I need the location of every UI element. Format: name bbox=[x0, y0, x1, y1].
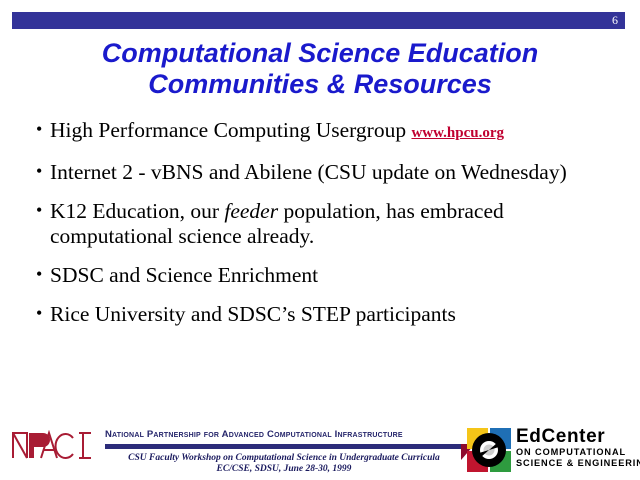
list-item-text: SDSC and Science Enrichment bbox=[50, 263, 318, 287]
edcenter-subtitle-2: SCIENCE & ENGINEERING bbox=[516, 458, 640, 469]
slide-canvas: 6 Computational Science Education Commun… bbox=[0, 0, 640, 480]
page-title-line-2: Communities & Resources bbox=[24, 69, 616, 100]
list-item-text: Rice University and SDSC’s STEP particip… bbox=[50, 302, 456, 326]
list-item: • Rice University and SDSC’s STEP partic… bbox=[36, 302, 608, 327]
npaci-tagline: National Partnership for Advanced Comput… bbox=[105, 429, 403, 440]
bullet-glyph: • bbox=[36, 117, 42, 142]
bullet-glyph: • bbox=[36, 159, 42, 184]
bullet-glyph: • bbox=[36, 198, 42, 223]
list-item-text: Internet 2 - vBNS and Abilene (CSU updat… bbox=[50, 160, 567, 184]
edcenter-wordmark: EdCenter ON COMPUTATIONAL SCIENCE & ENGI… bbox=[516, 427, 640, 469]
workshop-caption: CSU Faculty Workshop on Computational Sc… bbox=[108, 453, 460, 475]
edcenter-mark-icon bbox=[466, 427, 512, 473]
list-item-text: High Performance Computing Usergroup bbox=[50, 118, 411, 142]
workshop-caption-line-1: CSU Faculty Workshop on Computational Sc… bbox=[108, 453, 460, 464]
page-number: 6 bbox=[612, 12, 618, 29]
list-item: • SDSC and Science Enrichment bbox=[36, 263, 608, 288]
hpcu-link[interactable]: www.hpcu.org bbox=[411, 125, 504, 141]
bullet-list: • High Performance Computing Usergroup w… bbox=[36, 118, 608, 341]
list-item-text: K12 Education, our bbox=[50, 199, 224, 223]
edcenter-logo: EdCenter ON COMPUTATIONAL SCIENCE & ENGI… bbox=[466, 425, 640, 475]
title-accent-bar bbox=[12, 12, 625, 29]
list-item: • Internet 2 - vBNS and Abilene (CSU upd… bbox=[36, 160, 608, 185]
edcenter-name: EdCenter bbox=[516, 427, 640, 447]
footer-divider bbox=[105, 444, 465, 449]
list-item: • High Performance Computing Usergroup w… bbox=[36, 118, 608, 146]
list-item-emphasis: feeder bbox=[224, 199, 278, 223]
list-item: • K12 Education, our feeder population, … bbox=[36, 199, 608, 249]
npaci-logo-icon bbox=[11, 430, 99, 460]
bullet-glyph: • bbox=[36, 262, 42, 287]
workshop-caption-line-2: EC/CSE, SDSU, June 28-30, 1999 bbox=[108, 464, 460, 475]
bullet-glyph: • bbox=[36, 301, 42, 326]
page-title: Computational Science Education Communit… bbox=[24, 38, 616, 100]
edcenter-subtitle-1: ON COMPUTATIONAL bbox=[516, 447, 640, 458]
page-title-line-1: Computational Science Education bbox=[24, 38, 616, 69]
